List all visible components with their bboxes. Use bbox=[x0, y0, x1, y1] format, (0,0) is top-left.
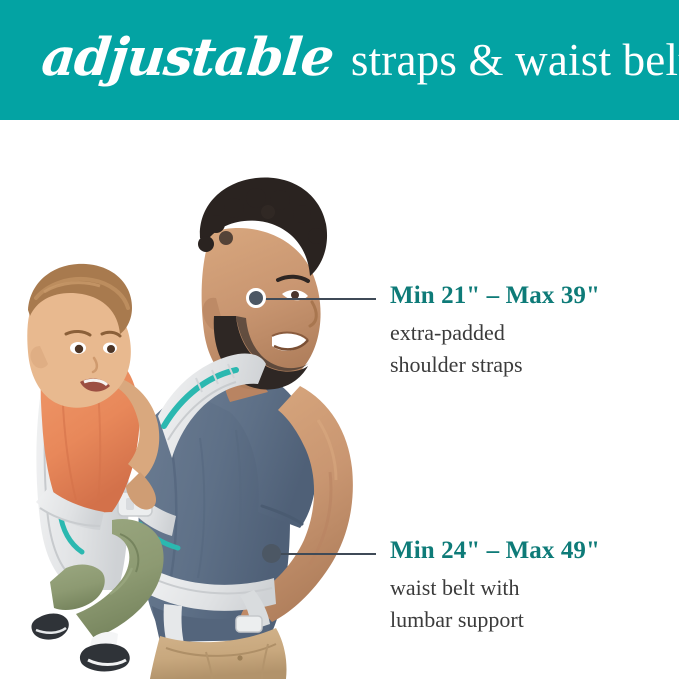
waist-belt-leader-line bbox=[279, 553, 376, 555]
callout-shoulder-straps-line-2: shoulder straps bbox=[390, 349, 675, 381]
shoulder-strap-marker-icon bbox=[246, 288, 266, 308]
header-banner: adjustable straps & waist belt bbox=[0, 0, 679, 120]
callout-shoulder-straps: Min 21" – Max 39" extra-padded shoulder … bbox=[390, 281, 675, 381]
callout-shoulder-straps-line-1: extra-padded bbox=[390, 317, 675, 349]
callout-waist-belt-title: Min 24" – Max 49" bbox=[390, 536, 675, 566]
waist-belt-marker-icon bbox=[262, 544, 281, 563]
callout-waist-belt-line-2: lumbar support bbox=[390, 604, 675, 636]
product-photo bbox=[0, 120, 379, 679]
callout-waist-belt-body: waist belt with lumbar support bbox=[390, 572, 675, 636]
callout-waist-belt-line-1: waist belt with bbox=[390, 572, 675, 604]
callout-waist-belt: Min 24" – Max 49" waist belt with lumbar… bbox=[390, 536, 675, 636]
header-script-word: adjustable bbox=[39, 32, 335, 84]
callout-shoulder-straps-title: Min 21" – Max 39" bbox=[390, 281, 675, 311]
shoulder-strap-leader-line bbox=[264, 298, 376, 300]
header-title-group: adjustable straps & waist belt bbox=[42, 0, 679, 120]
callout-shoulder-straps-body: extra-padded shoulder straps bbox=[390, 317, 675, 381]
product-photo-illustration bbox=[0, 120, 379, 679]
infographic-page: adjustable straps & waist belt bbox=[0, 0, 679, 679]
header-serif-words: straps & waist belt bbox=[351, 38, 679, 83]
